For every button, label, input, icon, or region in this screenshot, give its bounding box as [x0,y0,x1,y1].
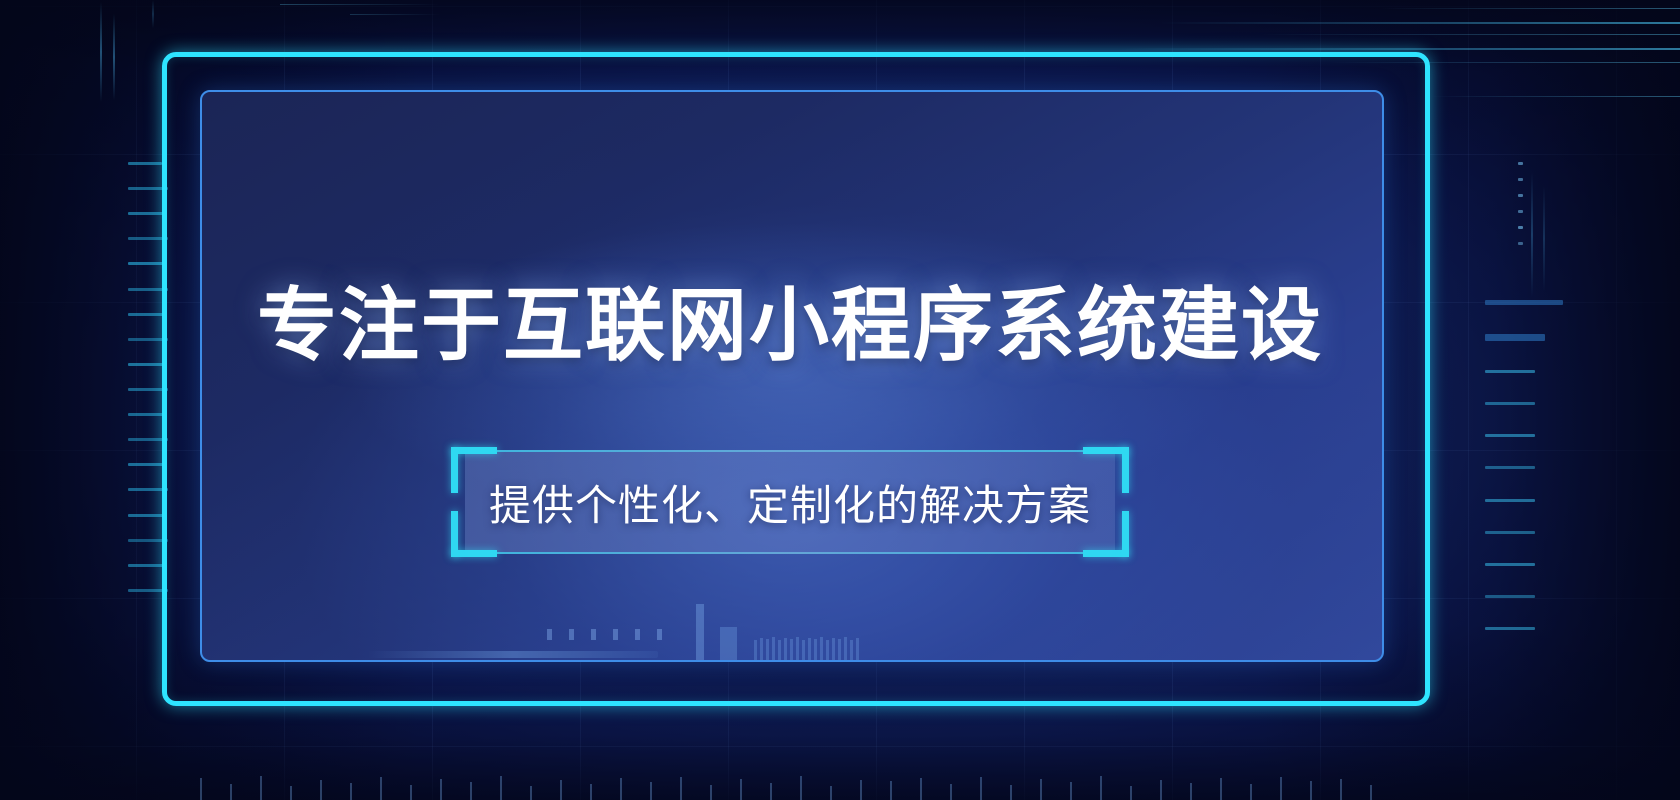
decor-vertical-streak-right-2 [1543,186,1545,291]
banner-subtitle-box: 提供个性化、定制化的解决方案 [465,450,1115,554]
decor-ladder-right [1485,300,1565,630]
banner-subtitle: 提供个性化、定制化的解决方案 [489,472,1091,533]
decor-vertical-streak-left-2 [113,14,115,100]
corner-bracket-bottom-left-vertical [451,511,458,557]
decor-vertical-streak-left-1 [100,2,102,102]
decor-ladder-left [128,162,168,592]
decor-vertical-streak-left-3 [152,0,154,28]
banner-title: 专注于互联网小程序系统建设 [257,286,1323,366]
decor-vertical-streak-right-1 [1531,172,1533,297]
hero-banner: 专注于互联网小程序系统建设 提供个性化、定制化的解决方案 [0,0,1680,800]
corner-bracket-top-right-vertical [1122,447,1129,493]
subtitle-box-top-line [465,450,1115,452]
banner-content: 专注于互联网小程序系统建设 提供个性化、定制化的解决方案 [200,90,1380,658]
subtitle-box-bottom-line [465,552,1115,554]
decor-bottom-ticks [200,770,1372,800]
decor-ticks-right-fine [1518,162,1523,245]
corner-bracket-bottom-right-vertical [1122,511,1129,557]
decor-streaks-top-left [180,0,440,60]
corner-bracket-top-left-vertical [451,447,458,493]
